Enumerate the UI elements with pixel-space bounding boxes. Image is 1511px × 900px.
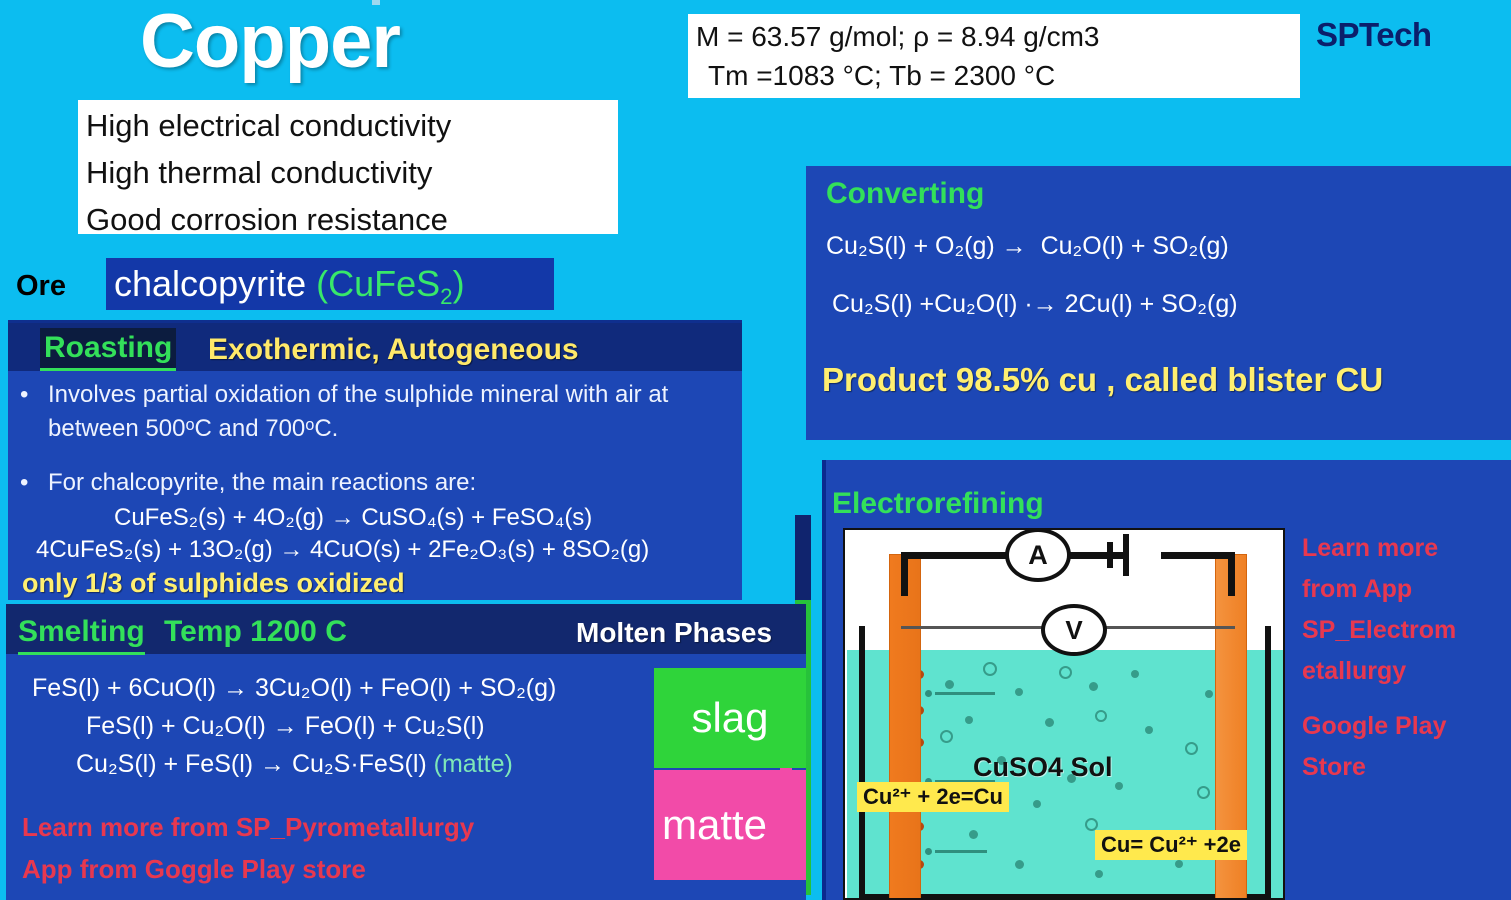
ore-formula-prefix: (CuFeS bbox=[316, 263, 440, 304]
electro-link-line-6: Store bbox=[1302, 747, 1507, 788]
ion-dot bbox=[1185, 742, 1198, 755]
constants-line-2: Tm =1083 °C; Tb = 2300 °C bbox=[696, 56, 1292, 95]
electrolysis-cell-diagram: A V CuSO4 Sol Cu²⁺ + 2e=Cu Cu= Cu²⁺ +2e bbox=[843, 528, 1285, 900]
ion-dot bbox=[965, 716, 973, 724]
ore-chip: chalcopyrite (CuFeS2) bbox=[106, 258, 554, 310]
ion-dot bbox=[1197, 786, 1210, 799]
slide-canvas: Copper High electrical conductivity High… bbox=[0, 0, 1511, 900]
pyro-link-line-1: Learn more from SP_Pyrometallurgy bbox=[22, 806, 474, 848]
brand-logo: SPTech bbox=[1316, 16, 1432, 54]
ion-dot bbox=[969, 830, 978, 839]
circuit-wire-left-horizontal bbox=[901, 552, 1009, 559]
ore-formula-suffix: ) bbox=[453, 263, 465, 304]
roasting-bullet-1: • Involves partial oxidation of the sulp… bbox=[48, 378, 738, 446]
property-line-2: High thermal conductivity bbox=[86, 149, 612, 196]
ion-dot bbox=[1115, 782, 1123, 790]
roasting-bullet-2-text: For chalcopyrite, the main reactions are… bbox=[48, 469, 476, 496]
smelting-title: Smelting bbox=[18, 612, 145, 655]
slag-swatch: slag bbox=[654, 668, 806, 768]
page-title: Copper bbox=[140, 2, 400, 82]
roasting-equation-2: 4CuFeS₂(s) + 13O₂(g) → 4CuO(s) + 2Fe₂O₃(… bbox=[36, 534, 649, 566]
circuit-wire-right-vertical bbox=[1228, 552, 1235, 596]
electro-link-line-3: SP_Electrom bbox=[1302, 610, 1507, 651]
ion-dot bbox=[1095, 870, 1103, 878]
smelting-temperature: Temp 1200 C bbox=[164, 612, 347, 652]
slag-label: slag bbox=[654, 668, 806, 768]
migration-marker bbox=[925, 848, 932, 855]
ion-dot bbox=[1205, 690, 1213, 698]
converting-equation-1: Cu₂S(l) + O₂(g) → Cu₂O(l) + SO₂(g) bbox=[826, 230, 1229, 262]
converting-product-note: Product 98.5% cu , called blister CU bbox=[822, 358, 1383, 402]
cathode-reaction-tag: Cu²⁺ + 2e=Cu bbox=[857, 782, 1009, 812]
roasting-note: only 1/3 of sulphides oxidized bbox=[22, 566, 405, 600]
constants-line-1: M = 63.57 g/mol; ρ = 8.94 g/cm3 bbox=[696, 17, 1292, 56]
migration-arrow bbox=[935, 850, 987, 853]
roasting-bullet-2: • For chalcopyrite, the main reactions a… bbox=[48, 466, 738, 500]
converting-equation-2: Cu₂S(l) +Cu₂O(l) ·→ 2Cu(l) + SO₂(g) bbox=[832, 288, 1238, 320]
pyrometallurgy-app-link[interactable]: Learn more from SP_Pyrometallurgy App fr… bbox=[22, 806, 474, 890]
roasting-subtitle: Exothermic, Autogeneous bbox=[208, 330, 579, 370]
smelting-equation-2: FeS(l) + Cu₂O(l) → FeO(l) + Cu₂S(l) bbox=[86, 710, 485, 742]
ion-dot bbox=[940, 730, 953, 743]
ion-dot bbox=[1095, 710, 1107, 722]
electrolyte-label: CuSO4 Sol bbox=[973, 752, 1113, 783]
link-spacer bbox=[1302, 692, 1507, 706]
pyro-link-line-2: App from Goggle Play store bbox=[22, 848, 474, 890]
ion-dot bbox=[1033, 800, 1041, 808]
ammeter-icon: A bbox=[1005, 528, 1071, 582]
beaker-wall-right bbox=[1265, 626, 1271, 900]
bullet-icon: • bbox=[20, 466, 28, 500]
roasting-title: Roasting bbox=[40, 328, 176, 371]
roasting-bullet-1-text: Involves partial oxidation of the sulphi… bbox=[48, 381, 668, 442]
ore-formula: (CuFeS2) bbox=[316, 263, 464, 304]
bullet-icon: • bbox=[20, 378, 28, 412]
circuit-wire-right-horizontal bbox=[1161, 552, 1235, 559]
matte-label: matte bbox=[654, 770, 806, 880]
voltmeter-icon: V bbox=[1041, 604, 1107, 656]
smelting-equation-3: Cu₂S(l) + FeS(l) → Cu₂S·FeS(l) (matte) bbox=[76, 748, 513, 780]
migration-marker bbox=[925, 690, 932, 697]
smelting-equation-1: FeS(l) + 6CuO(l) → 3Cu₂O(l) + FeO(l) + S… bbox=[32, 672, 556, 704]
converting-title: Converting bbox=[826, 174, 984, 214]
ion-dot bbox=[945, 680, 954, 689]
migration-arrow bbox=[935, 692, 995, 695]
ion-dot bbox=[983, 662, 997, 676]
ion-dot bbox=[1015, 688, 1023, 696]
ion-dot bbox=[1145, 726, 1153, 734]
roasting-equation-1: CuFeS₂(s) + 4O₂(g) → CuSO₄(s) + FeSO₄(s) bbox=[114, 502, 592, 534]
electrometallurgy-app-link[interactable]: Learn more from App SP_Electrom etallurg… bbox=[1302, 528, 1507, 788]
constants-box: M = 63.57 g/mol; ρ = 8.94 g/cm3 Tm =1083… bbox=[688, 14, 1300, 98]
properties-box: High electrical conductivity High therma… bbox=[78, 100, 618, 234]
matte-swatch: matte bbox=[654, 770, 806, 880]
matte-annotation: (matte) bbox=[434, 750, 513, 778]
electro-link-line-4: etallurgy bbox=[1302, 651, 1507, 692]
ion-dot bbox=[1045, 718, 1054, 727]
ion-dot bbox=[1015, 860, 1024, 869]
electro-link-line-1: Learn more bbox=[1302, 528, 1507, 569]
battery-negative-plate bbox=[1107, 542, 1113, 568]
ion-dot bbox=[1089, 682, 1098, 691]
ion-dot bbox=[1131, 670, 1139, 678]
electro-link-line-5: Google Play bbox=[1302, 706, 1507, 747]
ore-name: chalcopyrite bbox=[114, 263, 306, 304]
property-line-3: Good corrosion resistance bbox=[86, 196, 612, 243]
molten-phases-label: Molten Phases bbox=[576, 614, 772, 652]
ion-dot bbox=[1175, 860, 1183, 868]
ore-label: Ore bbox=[16, 270, 66, 303]
cathode-electrode bbox=[889, 554, 921, 900]
beaker-wall-left bbox=[859, 626, 865, 900]
electrorefining-title: Electrorefining bbox=[832, 484, 1044, 524]
smelting-equation-3-text: Cu₂S(l) + FeS(l) → Cu₂S·FeS(l) bbox=[76, 750, 427, 778]
battery-positive-plate bbox=[1123, 534, 1129, 576]
electro-link-line-2: from App bbox=[1302, 569, 1507, 610]
ore-formula-sub: 2 bbox=[440, 284, 452, 309]
anode-reaction-tag: Cu= Cu²⁺ +2e bbox=[1095, 830, 1247, 860]
ion-dot bbox=[1059, 666, 1072, 679]
property-line-1: High electrical conductivity bbox=[86, 102, 612, 149]
